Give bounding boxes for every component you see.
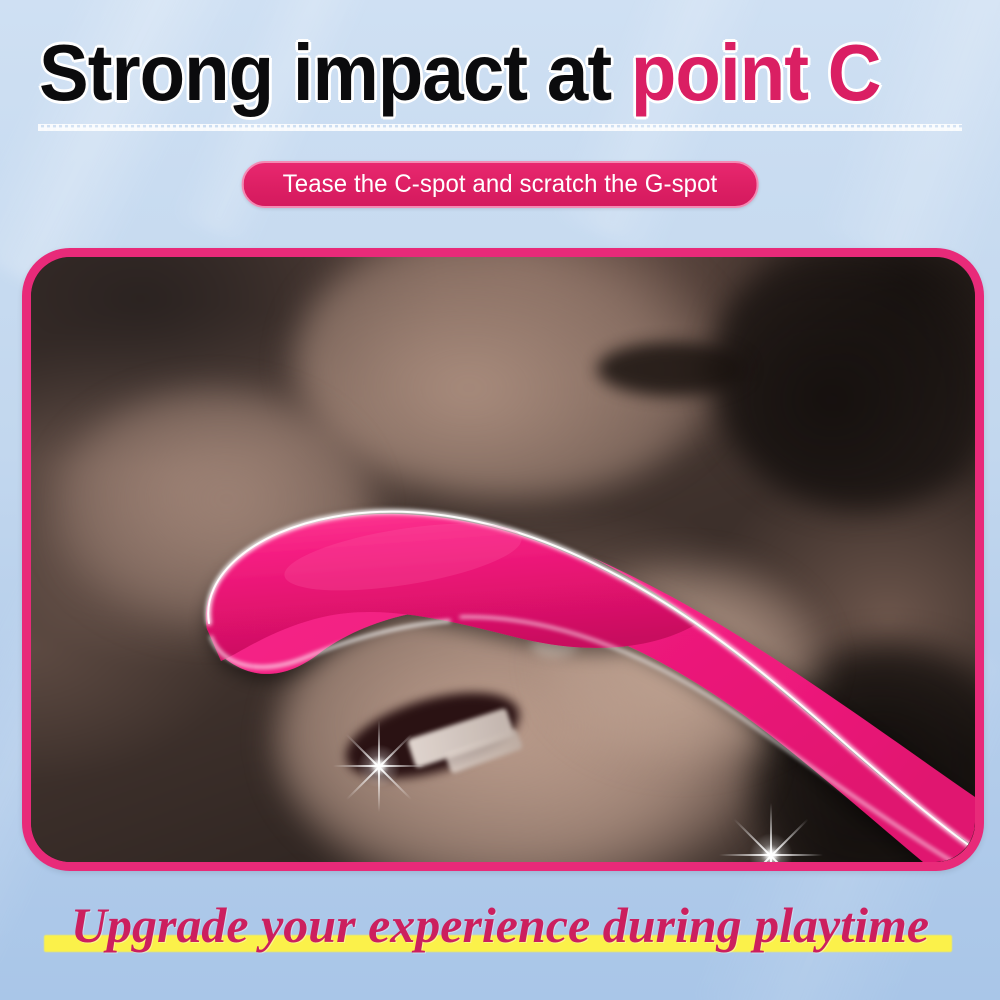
subtitle-pill-label: Tease the C-spot and scratch the G-spot [283, 170, 718, 199]
product-overlay [31, 257, 975, 862]
tagline-text: Upgrade your experience during playtime [0, 896, 1000, 954]
tagline-block: Upgrade your experience during playtime [0, 896, 1000, 966]
subtitle-pill: Tease the C-spot and scratch the G-spot [242, 161, 759, 208]
photo-card [22, 248, 984, 871]
product-shape-icon [31, 257, 975, 862]
promo-poster: Strong impact at point C Tease the C-spo… [0, 0, 1000, 1000]
headline-accent-part: point C [631, 28, 881, 117]
divider [38, 124, 962, 131]
photo-image [31, 257, 975, 862]
page-title: Strong impact at point C [0, 34, 930, 112]
headline-dark-part: Strong impact at [39, 28, 631, 117]
